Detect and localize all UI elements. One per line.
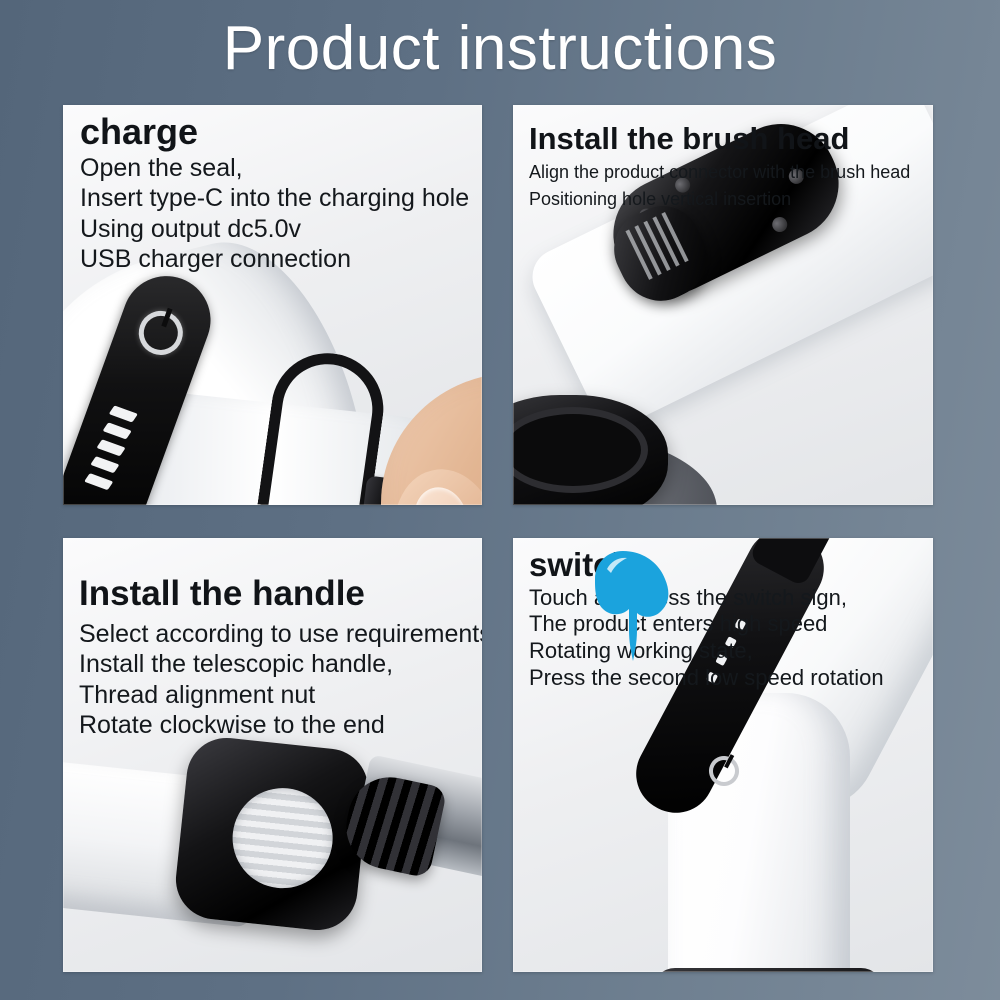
- power-icon: [133, 305, 189, 361]
- switch-heading: switch: [529, 548, 884, 583]
- handle-line-3: Thread alignment nut: [79, 680, 482, 711]
- threaded-collar-icon: [172, 734, 372, 934]
- handle-line-2: Install the telescopic handle,: [79, 649, 482, 680]
- charge-line-2: Insert type-C into the charging hole: [80, 183, 469, 214]
- brush-head-heading: Install the brush head: [529, 123, 910, 156]
- switch-text-block: switch Touch and press the switch sign, …: [529, 548, 884, 692]
- charge-line-4: USB charger connection: [80, 244, 469, 275]
- handle-line-1: Select according to use requirements: [79, 619, 482, 650]
- page-title: Product instructions: [0, 6, 1000, 92]
- handle-line-4: Rotate clockwise to the end: [79, 710, 482, 741]
- switch-line-3: Rotating working state,: [529, 638, 884, 665]
- panel-brush-head: Install the brush head Align the product…: [513, 105, 933, 505]
- battery-led-bars-icon: [83, 405, 137, 498]
- panel-handle: Install the handle Select according to u…: [63, 538, 482, 972]
- handle-text-block: Install the handle Select according to u…: [79, 576, 482, 741]
- switch-line-2: The product enters high speed: [529, 611, 884, 638]
- panel-charge: charge Open the seal, Insert type-C into…: [63, 105, 482, 505]
- charge-heading: charge: [80, 113, 469, 151]
- pointing-hand-cursor-icon: [585, 543, 681, 663]
- switch-line-1: Touch and press the switch sign,: [529, 585, 884, 612]
- charge-text-block: charge Open the seal, Insert type-C into…: [80, 113, 469, 275]
- handle-heading: Install the handle: [79, 576, 482, 613]
- panel-switch: switch Touch and press the switch sign, …: [513, 538, 933, 972]
- brush-head-line-2: Positioning hole vertical insertion: [529, 189, 910, 211]
- brush-head-line-1: Align the product connector with the bru…: [529, 162, 910, 184]
- switch-line-4: Press the second low speed rotation: [529, 665, 884, 692]
- charge-line-1: Open the seal,: [80, 153, 469, 184]
- charge-line-3: Using output dc5.0v: [80, 214, 469, 245]
- device-base: [653, 968, 883, 972]
- brush-head-text-block: Install the brush head Align the product…: [529, 123, 910, 215]
